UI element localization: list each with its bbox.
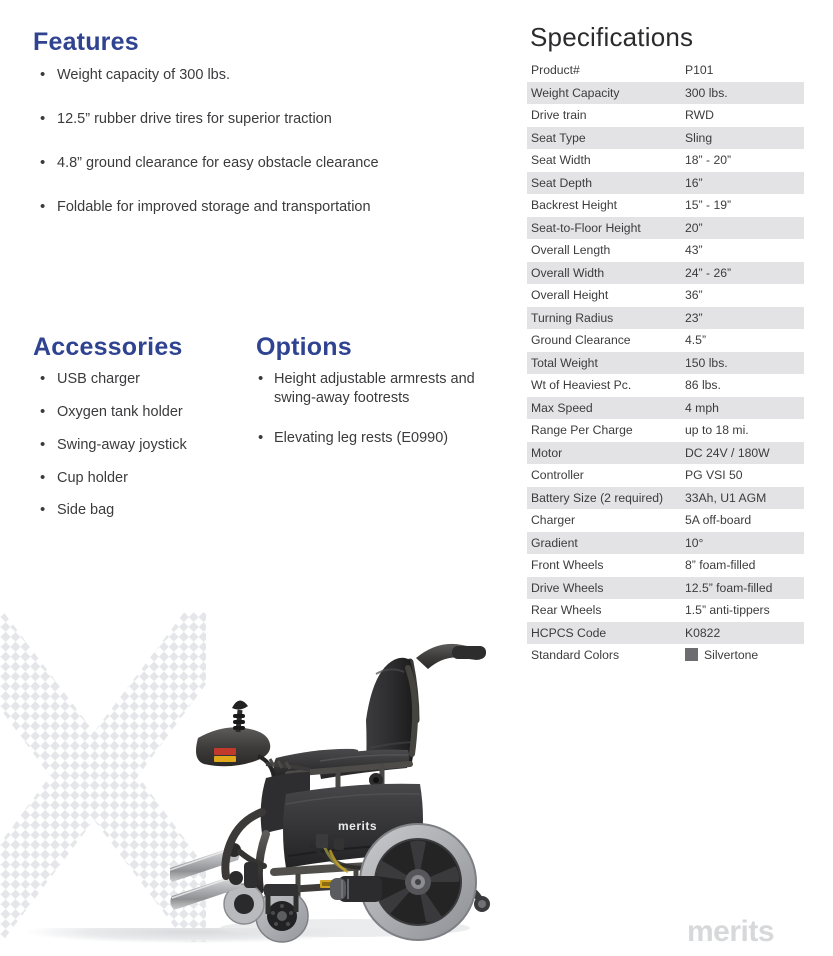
features-heading: Features [33, 30, 493, 55]
spec-label: Ground Clearance [527, 333, 685, 347]
spec-row: Seat-to-Floor Height20” [527, 217, 804, 240]
spec-row: MotorDC 24V / 180W [527, 442, 804, 465]
spec-label: Charger [527, 513, 685, 527]
spec-row: Charger5A off-board [527, 509, 804, 532]
spec-value: 16” [685, 176, 804, 190]
list-item-text: Weight capacity of 300 lbs. [57, 67, 230, 83]
spec-row: Drive Wheels12.5” foam-filled [527, 577, 804, 600]
spec-label: Overall Length [527, 243, 685, 257]
spec-row: Front Wheels8” foam-filled [527, 554, 804, 577]
spec-label: Range Per Charge [527, 423, 685, 437]
list-item: • Cup holder [33, 469, 248, 488]
spec-label: Seat Width [527, 153, 685, 167]
options-section: Options • Height adjustable armrests and… [256, 335, 496, 469]
spec-value: 10° [685, 536, 804, 550]
spec-row: Wt of Heaviest Pc.86 lbs. [527, 374, 804, 397]
list-item: • 12.5” rubber drive tires for superior … [33, 110, 493, 129]
bullet-icon: • [40, 468, 45, 488]
product-photo-wheelchair: merits [170, 598, 520, 948]
list-item-text: Oxygen tank holder [57, 404, 183, 420]
accessories-list: • USB charger • Oxygen tank holder • Swi… [33, 370, 248, 520]
spec-row: Total Weight150 lbs. [527, 352, 804, 375]
spec-value: 12.5” foam-filled [685, 581, 804, 595]
spec-value-text: Silvertone [704, 648, 758, 662]
spec-value: P101 [685, 63, 804, 77]
spec-row: Max Speed4 mph [527, 397, 804, 420]
bullet-icon: • [258, 428, 263, 448]
spec-label: Overall Width [527, 266, 685, 280]
spec-value: 4.5” [685, 333, 804, 347]
list-item-text: Elevating leg rests (E0990) [274, 430, 448, 446]
spec-label: Seat Type [527, 131, 685, 145]
list-item: • Oxygen tank holder [33, 403, 248, 422]
spec-row: Seat Width18” - 20” [527, 149, 804, 172]
spec-value: 15” - 19” [685, 198, 804, 212]
spec-row: Product#P101 [527, 59, 804, 82]
spec-row: Seat TypeSling [527, 127, 804, 150]
bullet-icon: • [40, 500, 45, 520]
merits-logo: merits [687, 916, 805, 946]
spec-label: Gradient [527, 536, 685, 550]
list-item: • Swing-away joystick [33, 436, 248, 455]
spec-label: Seat Depth [527, 176, 685, 190]
spec-row: Turning Radius23” [527, 307, 804, 330]
spec-label: Wt of Heaviest Pc. [527, 378, 685, 392]
list-item-text: Side bag [57, 502, 114, 518]
list-item: • Side bag [33, 501, 248, 520]
spec-value: 20” [685, 221, 804, 235]
list-item-text: 12.5” rubber drive tires for superior tr… [57, 111, 332, 127]
specifications-section: Specifications Product#P101Weight Capaci… [527, 24, 804, 667]
spec-value: 24” - 26” [685, 266, 804, 280]
list-item: • Foldable for improved storage and tran… [33, 198, 493, 217]
spec-value: Sling [685, 131, 804, 145]
specifications-table: Product#P101Weight Capacity300 lbs.Drive… [527, 59, 804, 667]
spec-value: 150 lbs. [685, 356, 804, 370]
options-list: • Height adjustable armrests and swing-a… [256, 370, 496, 448]
bullet-icon: • [40, 109, 45, 129]
spec-value: 36” [685, 288, 804, 302]
spec-label: Turning Radius [527, 311, 685, 325]
spec-label: Total Weight [527, 356, 685, 370]
spec-label: Overall Height [527, 288, 685, 302]
spec-row: Standard ColorsSilvertone [527, 644, 804, 667]
spec-value: 86 lbs. [685, 378, 804, 392]
spec-row: Seat Depth16” [527, 172, 804, 195]
spec-value: PG VSI 50 [685, 468, 804, 482]
features-list: • Weight capacity of 300 lbs. • 12.5” ru… [33, 66, 493, 216]
spec-value: 18” - 20” [685, 153, 804, 167]
features-section: Features • Weight capacity of 300 lbs. •… [33, 30, 493, 241]
list-item-text: Foldable for improved storage and transp… [57, 199, 371, 215]
spec-row: Ground Clearance4.5” [527, 329, 804, 352]
spec-row: Overall Height36” [527, 284, 804, 307]
spec-value: DC 24V / 180W [685, 446, 804, 460]
bullet-icon: • [40, 435, 45, 455]
spec-value: 5A off-board [685, 513, 804, 527]
svg-text:merits: merits [338, 819, 377, 833]
list-item-text: Height adjustable armrests and swing-awa… [274, 371, 475, 406]
spec-label: Battery Size (2 required) [527, 491, 685, 505]
spec-label: Standard Colors [527, 648, 685, 662]
spec-value: 43” [685, 243, 804, 257]
spec-value: 33Ah, U1 AGM [685, 491, 804, 505]
bullet-icon: • [40, 65, 45, 85]
spec-row: Overall Width24” - 26” [527, 262, 804, 285]
spec-value: RWD [685, 108, 804, 122]
spec-label: Backrest Height [527, 198, 685, 212]
list-item-text: 4.8” ground clearance for easy obstacle … [57, 155, 379, 171]
list-item-text: Cup holder [57, 470, 128, 486]
spec-label: Front Wheels [527, 558, 685, 572]
spec-row: Gradient10° [527, 532, 804, 555]
spec-label: Motor [527, 446, 685, 460]
spec-row: Overall Length43” [527, 239, 804, 262]
spec-label: Max Speed [527, 401, 685, 415]
merits-logo-text: merits [687, 916, 774, 946]
spec-row: Battery Size (2 required)33Ah, U1 AGM [527, 487, 804, 510]
spec-label: Seat-to-Floor Height [527, 221, 685, 235]
spec-row: Backrest Height15” - 19” [527, 194, 804, 217]
spec-value: 300 lbs. [685, 86, 804, 100]
spec-label: Rear Wheels [527, 603, 685, 617]
spec-label: Weight Capacity [527, 86, 685, 100]
spec-value: 4 mph [685, 401, 804, 415]
bullet-icon: • [258, 369, 263, 389]
spec-row: Weight Capacity300 lbs. [527, 82, 804, 105]
spec-label: HCPCS Code [527, 626, 685, 640]
spec-row: HCPCS CodeK0822 [527, 622, 804, 645]
accessories-heading: Accessories [33, 335, 248, 360]
spec-row: ControllerPG VSI 50 [527, 464, 804, 487]
list-item: • 4.8” ground clearance for easy obstacl… [33, 154, 493, 173]
color-swatch-icon [685, 648, 698, 661]
bullet-icon: • [40, 197, 45, 217]
spec-row: Range Per Chargeup to 18 mi. [527, 419, 804, 442]
spec-value: Silvertone [685, 648, 804, 662]
list-item-text: Swing-away joystick [57, 437, 187, 453]
accessories-section: Accessories • USB charger • Oxygen tank … [33, 335, 248, 534]
spec-value: 8” foam-filled [685, 558, 804, 572]
specifications-heading: Specifications [530, 24, 804, 50]
options-heading: Options [256, 335, 496, 360]
spec-value: up to 18 mi. [685, 423, 804, 437]
spec-label: Controller [527, 468, 685, 482]
spec-value: K0822 [685, 626, 804, 640]
list-item: • Elevating leg rests (E0990) [256, 429, 496, 448]
spec-value: 1.5” anti-tippers [685, 603, 804, 617]
spec-label: Product# [527, 63, 685, 77]
spec-value: 23” [685, 311, 804, 325]
spec-label: Drive Wheels [527, 581, 685, 595]
bullet-icon: • [40, 153, 45, 173]
list-item: • USB charger [33, 370, 248, 389]
spec-row: Drive trainRWD [527, 104, 804, 127]
list-item-text: USB charger [57, 371, 140, 387]
list-item: • Height adjustable armrests and swing-a… [256, 370, 496, 408]
spec-label: Drive train [527, 108, 685, 122]
bullet-icon: • [40, 369, 45, 389]
bullet-icon: • [40, 402, 45, 422]
spec-row: Rear Wheels1.5” anti-tippers [527, 599, 804, 622]
list-item: • Weight capacity of 300 lbs. [33, 66, 493, 85]
